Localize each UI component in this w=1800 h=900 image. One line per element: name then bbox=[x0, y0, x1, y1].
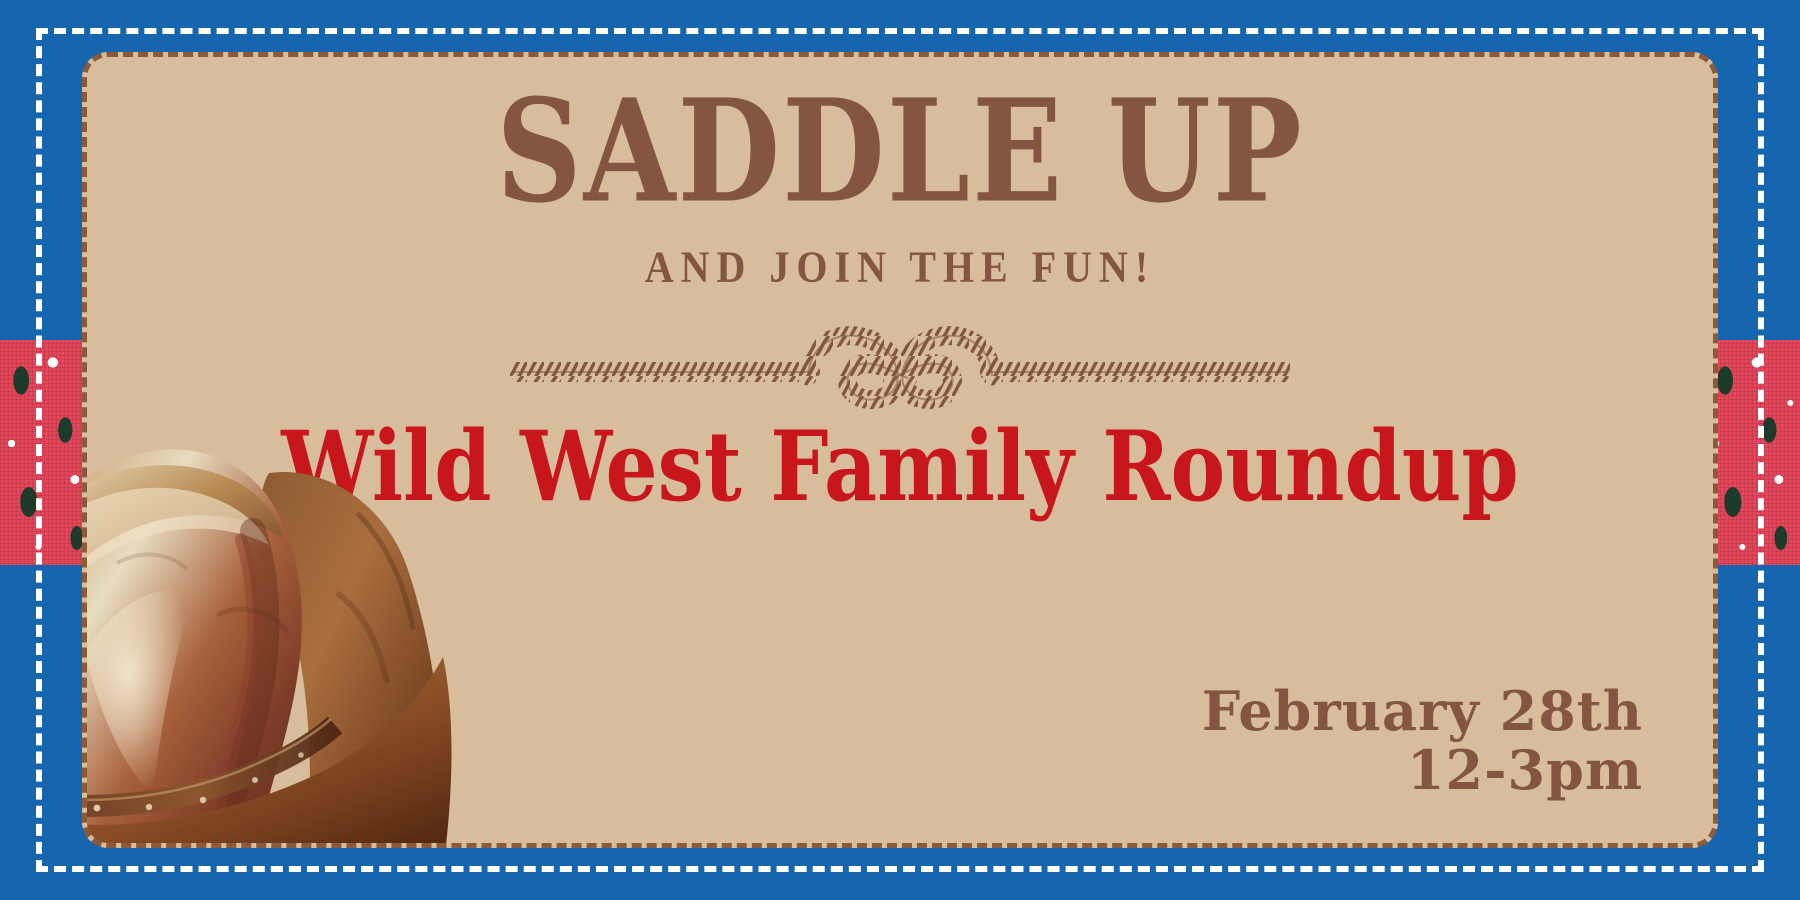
event-name: Wild West Family Roundup bbox=[87, 419, 1713, 516]
text-stack: SADDLE UP AND JOIN THE FUN! bbox=[87, 57, 1713, 508]
rope-knot-icon bbox=[510, 316, 1290, 412]
event-date: February 28th bbox=[1202, 682, 1643, 740]
event-datetime: February 28th 12-3pm bbox=[1202, 682, 1643, 799]
event-time: 12-3pm bbox=[1202, 741, 1643, 799]
subtitle: AND JOIN THE FUN! bbox=[87, 240, 1713, 293]
rope-knot-divider bbox=[87, 316, 1713, 412]
event-banner: SADDLE UP AND JOIN THE FUN! bbox=[0, 0, 1800, 900]
page-title: SADDLE UP bbox=[82, 81, 1718, 223]
content-card: SADDLE UP AND JOIN THE FUN! bbox=[82, 52, 1718, 848]
bandana-pattern-right bbox=[1704, 340, 1800, 565]
